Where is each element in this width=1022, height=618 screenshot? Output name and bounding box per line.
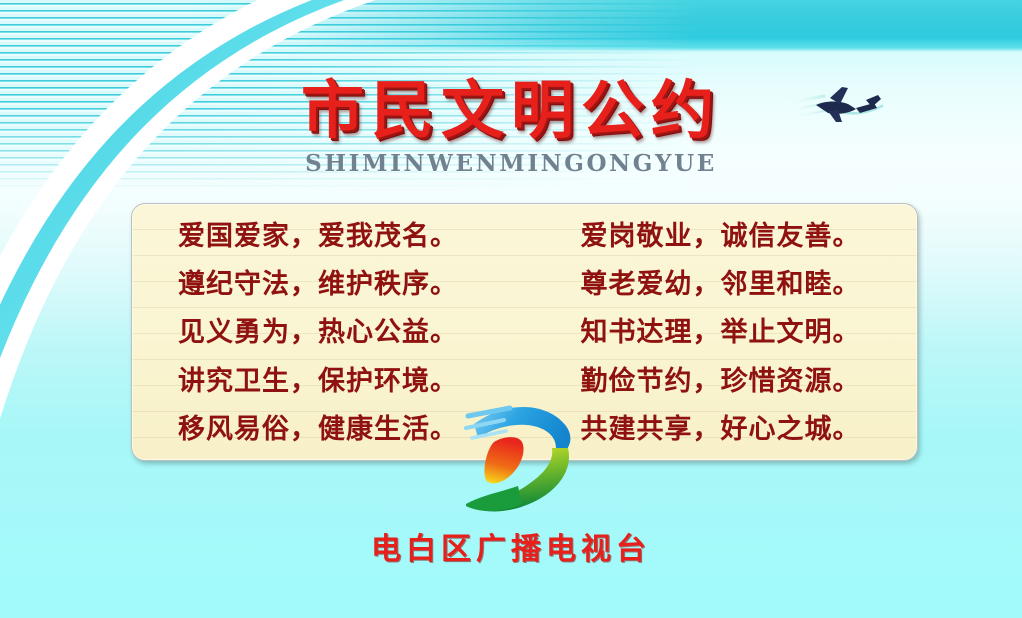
pledge-line: 勤俭节约，珍惜资源。 (525, 368, 918, 395)
pledge-cell: 遵纪守法，维护秩序。 (132, 271, 525, 298)
pledge-cell: 知书达理，举止文明。 (525, 319, 918, 346)
pledge-line: 知书达理，举止文明。 (525, 319, 918, 346)
station-name: 电白区广播电视台 (371, 524, 651, 568)
pledge-line: 讲究卫生，保护环境。 (132, 368, 525, 395)
poster-canvas: 市民文明公约 SHIMINWENMINGONGYUE 爱国爱家，爱我茂名。 爱岗… (0, 0, 1022, 618)
footer-block: 电白区广播电视台 (0, 524, 1022, 568)
pledge-line: 爱岗敬业，诚信友善。 (525, 223, 918, 250)
pledge-cell: 尊老爱幼，邻里和睦。 (525, 271, 918, 298)
pledge-cell: 爱岗敬业，诚信友善。 (525, 223, 918, 250)
pledge-cell: 勤俭节约，珍惜资源。 (525, 368, 918, 395)
pledge-cell: 爱国爱家，爱我茂名。 (132, 223, 525, 250)
pledge-line: 见义勇为，热心公益。 (132, 319, 525, 346)
pledge-line: 爱国爱家，爱我茂名。 (132, 223, 525, 250)
pledge-line: 尊老爱幼，邻里和睦。 (525, 271, 918, 298)
pledge-line: 遵纪守法，维护秩序。 (132, 271, 525, 298)
page-subtitle: SHIMINWENMINGONGYUE (0, 150, 1022, 177)
page-title: 市民文明公约 (301, 78, 721, 144)
airplane-icon (778, 78, 894, 140)
pledge-cell: 见义勇为，热心公益。 (132, 319, 525, 346)
dianbai-tv-logo (456, 398, 584, 520)
pledge-cell: 讲究卫生，保护环境。 (132, 368, 525, 395)
